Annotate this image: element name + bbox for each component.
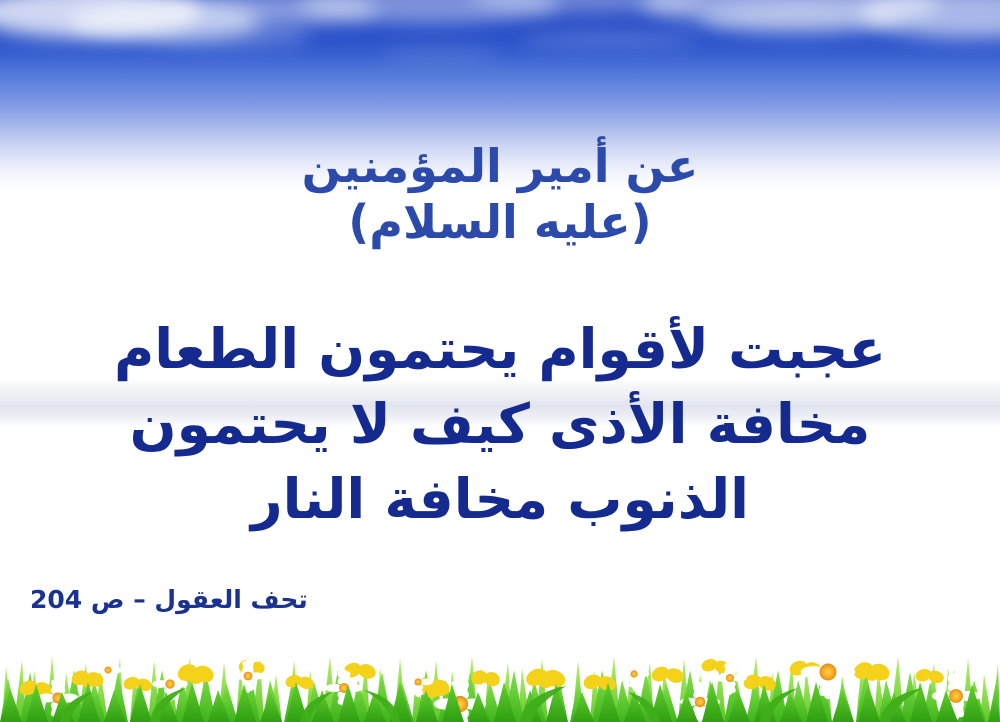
hadith-poster: عن أمير المؤمنين (عليه السلام) عجبت لأقو… [0, 0, 1000, 722]
source-citation: تحف العقول – ص 204 [30, 584, 308, 616]
attribution-heading: عن أمير المؤمنين (عليه السلام) [0, 138, 1000, 250]
hadith-line-3: الذنوب مخافة النار [0, 462, 1000, 537]
hadith-line-1: عجبت لأقوام يحتمون الطعام [0, 312, 1000, 387]
hadith-line-2: مخافة الأذى كيف لا يحتمون [0, 387, 1000, 462]
attribution-line-2: (عليه السلام) [0, 194, 1000, 250]
hadith-body: عجبت لأقوام يحتمون الطعام مخافة الأذى كي… [0, 312, 1000, 537]
attribution-line-1: عن أمير المؤمنين [0, 138, 1000, 194]
grass-footer-decoration [0, 626, 1000, 722]
poster-content: عن أمير المؤمنين (عليه السلام) عجبت لأقو… [0, 0, 1000, 722]
